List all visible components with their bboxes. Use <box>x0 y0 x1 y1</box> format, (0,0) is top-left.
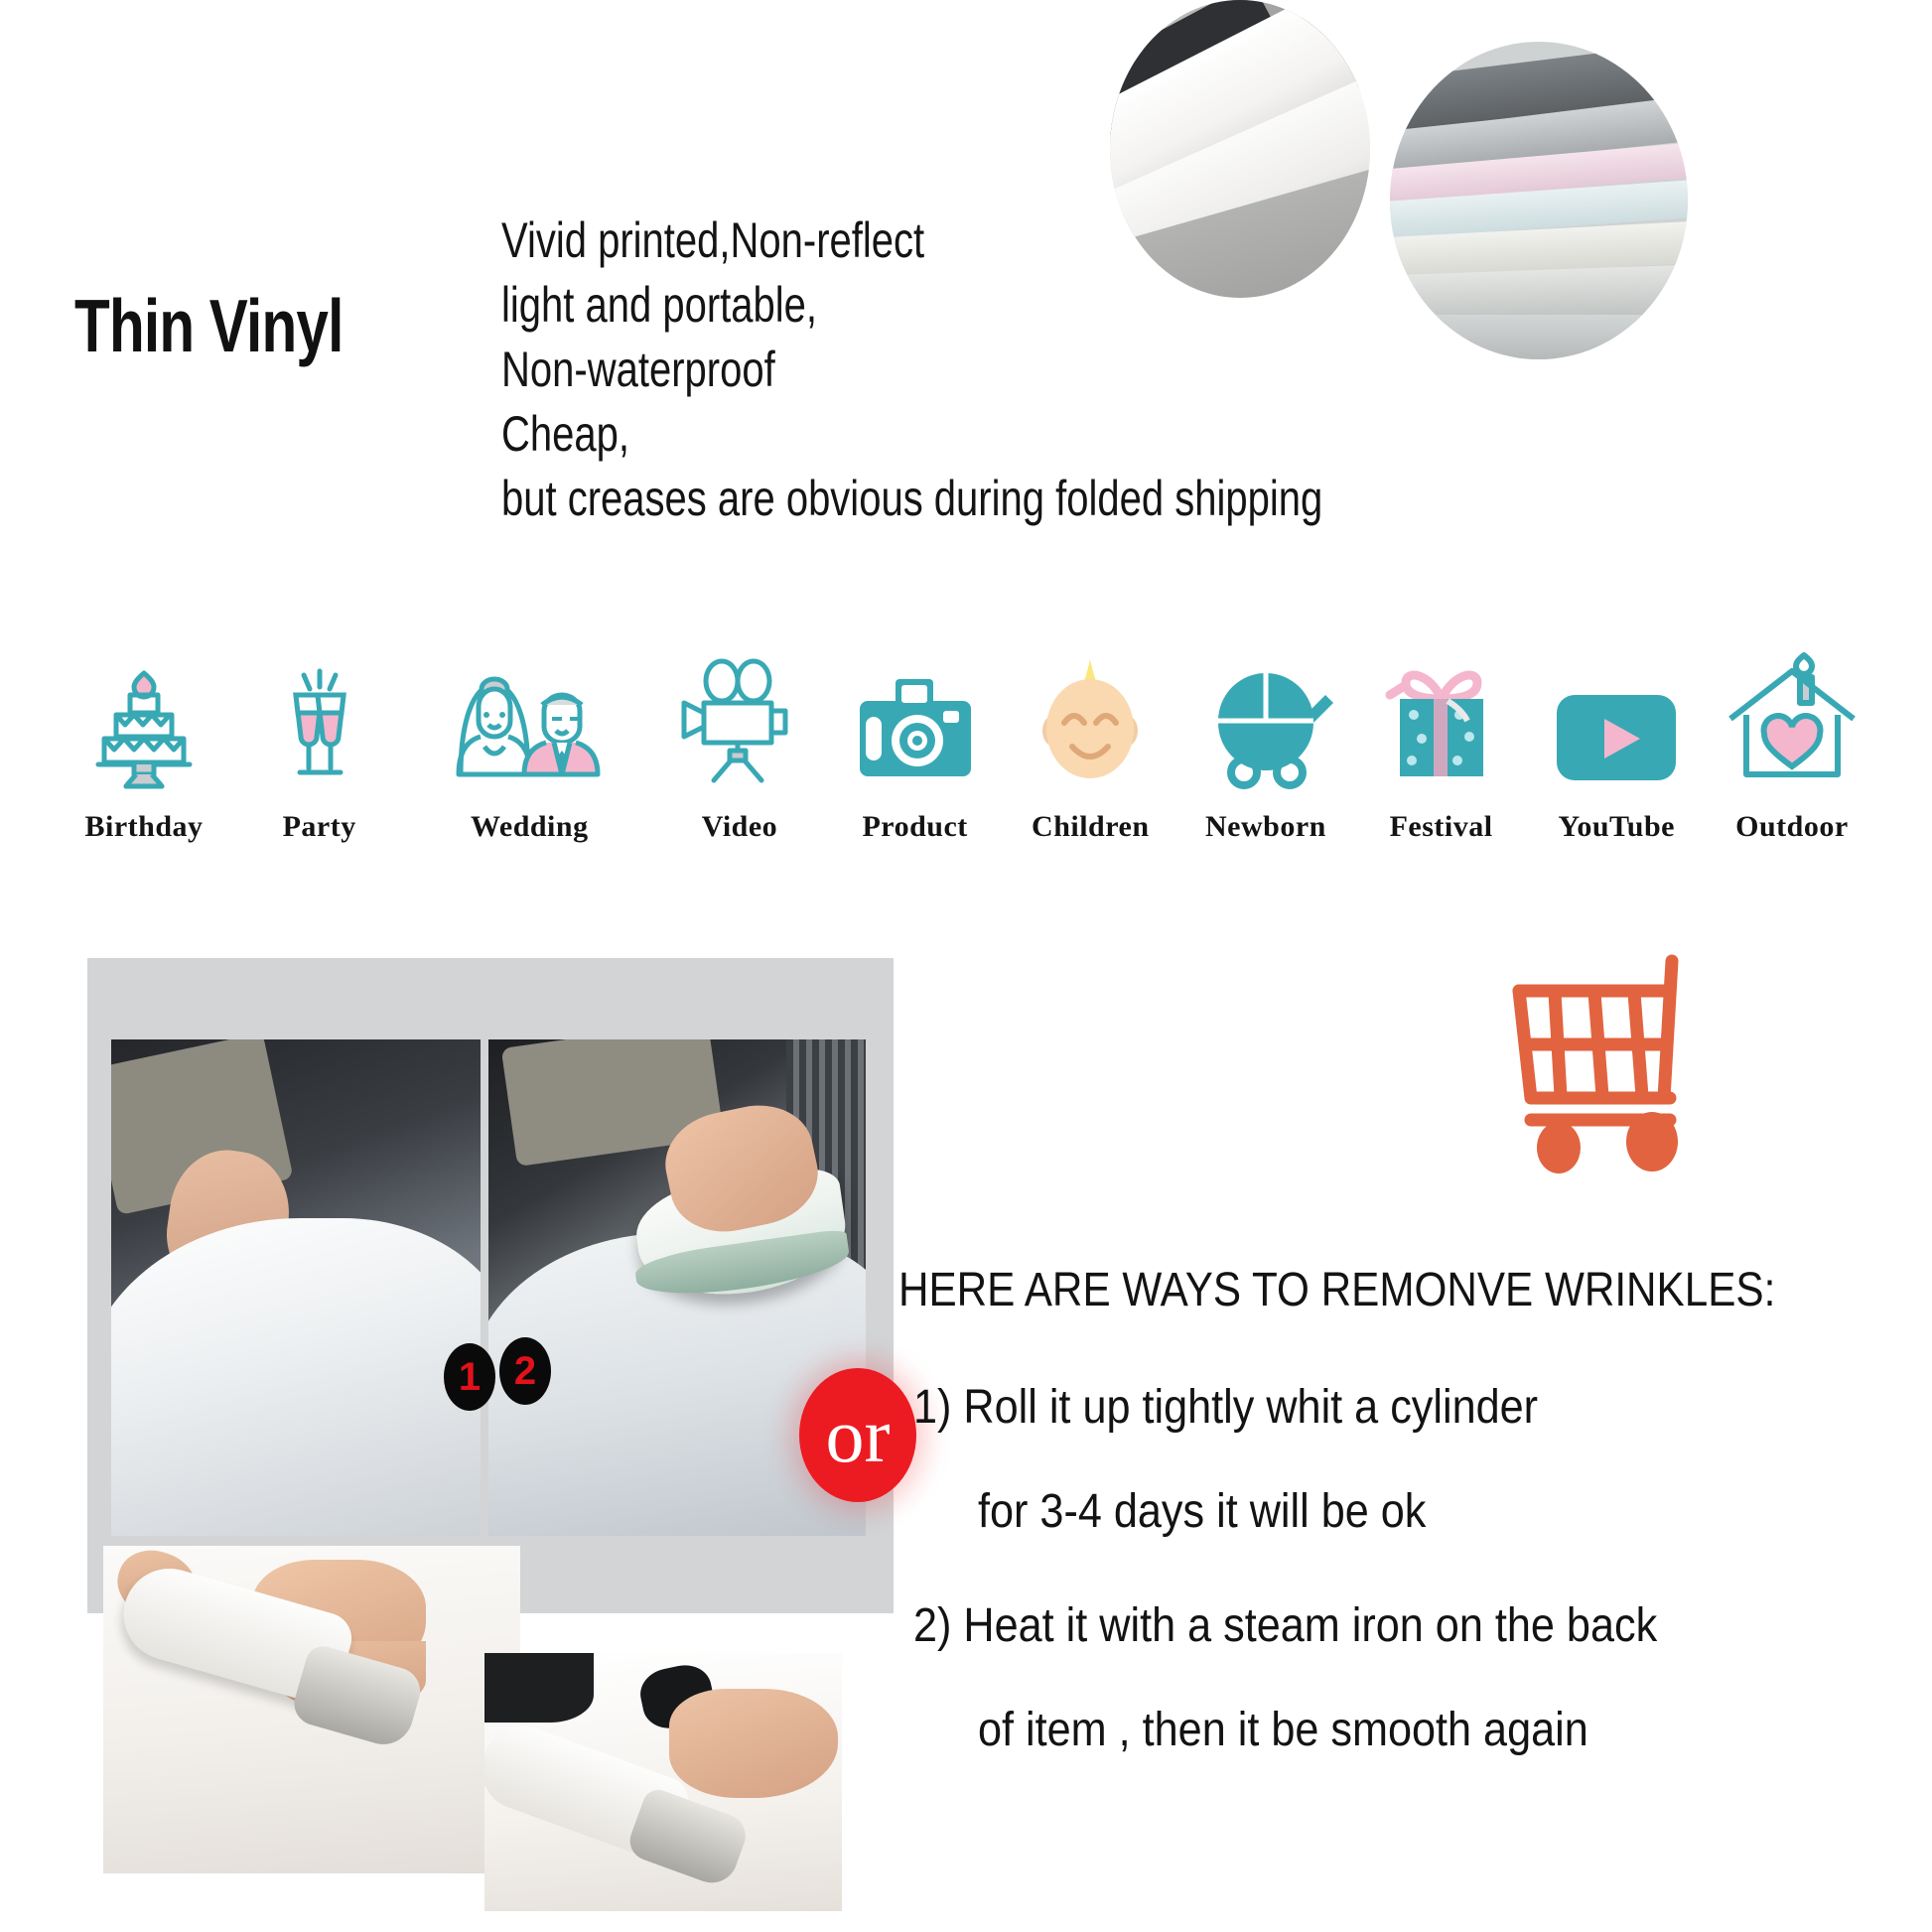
baby-face-icon <box>1021 635 1160 794</box>
shopping-cart-icon[interactable] <box>1501 953 1734 1186</box>
wrinkle-step-1-line2: for 3-4 days it will be ok <box>978 1484 1426 1539</box>
use-case-label: Children <box>1032 810 1149 844</box>
infographic-canvas: Thin Vinyl Vivid printed,Non-reflect lig… <box>0 0 1932 1932</box>
feature-line: Cheap, <box>501 402 1304 467</box>
use-case-label: Product <box>862 810 967 844</box>
use-case-youtube[interactable]: YouTube <box>1542 635 1691 844</box>
feature-line: Vivid printed,Non-reflect <box>501 208 1304 273</box>
wrinkle-step-1-line1: 1) Roll it up tightly whit a cylinder <box>913 1380 1538 1435</box>
baby-stroller-icon <box>1196 635 1335 794</box>
feature-line: Non-waterproof <box>501 338 1304 402</box>
cake-icon <box>84 635 204 794</box>
use-case-label: Video <box>702 810 777 844</box>
bride-groom-icon <box>425 635 633 794</box>
use-case-newborn[interactable]: Newborn <box>1191 635 1340 844</box>
photo-steamer-closeup <box>484 1653 842 1911</box>
wrinkle-step-2-line2: of item , then it be smooth again <box>978 1703 1588 1757</box>
use-case-label: Outdoor <box>1735 810 1849 844</box>
feature-line: but creases are obvious during folded sh… <box>501 467 1304 531</box>
wrinkle-removal-photo-collage <box>87 958 894 1613</box>
use-case-birthday[interactable]: Birthday <box>69 635 218 844</box>
use-case-icon-row: Birthday Party <box>69 635 1866 844</box>
use-case-label: Birthday <box>84 810 203 844</box>
wrinkle-step-2-line1: 2) Heat it with a steam iron on the back <box>913 1598 1657 1653</box>
use-case-label: Wedding <box>471 810 589 844</box>
use-case-party[interactable]: Party <box>245 635 394 844</box>
youtube-play-icon <box>1547 635 1686 794</box>
use-case-wedding[interactable]: Wedding <box>420 635 638 844</box>
photo-hand-pulling-fabric <box>111 1039 481 1536</box>
gift-box-icon <box>1372 635 1511 794</box>
video-camera-icon <box>670 635 809 794</box>
feature-line: light and portable, <box>501 273 1304 338</box>
use-case-children[interactable]: Children <box>1016 635 1165 844</box>
photo-camera-icon <box>846 635 985 794</box>
use-case-label: YouTube <box>1559 810 1675 844</box>
use-case-video[interactable]: Video <box>665 635 814 844</box>
use-case-festival[interactable]: Festival <box>1367 635 1516 844</box>
use-case-label: Festival <box>1390 810 1493 844</box>
use-case-product[interactable]: Product <box>841 635 990 844</box>
material-title: Thin Vinyl <box>74 283 344 368</box>
feature-list: Vivid printed,Non-reflect light and port… <box>501 208 1504 531</box>
house-heart-icon <box>1723 635 1862 794</box>
photo-steamer-on-white-fabric <box>103 1546 520 1873</box>
use-case-label: Newborn <box>1205 810 1326 844</box>
step-badge-2: 2 <box>499 1337 551 1405</box>
wrinkle-guide-heading: HERE ARE WAYS TO REMONVE WRINKLES: <box>898 1263 1775 1317</box>
step-badge-1: 1 <box>444 1343 495 1411</box>
champagne-glasses-icon <box>260 635 379 794</box>
or-badge: or <box>799 1368 916 1502</box>
use-case-label: Party <box>283 810 356 844</box>
use-case-outdoor[interactable]: Outdoor <box>1718 635 1866 844</box>
